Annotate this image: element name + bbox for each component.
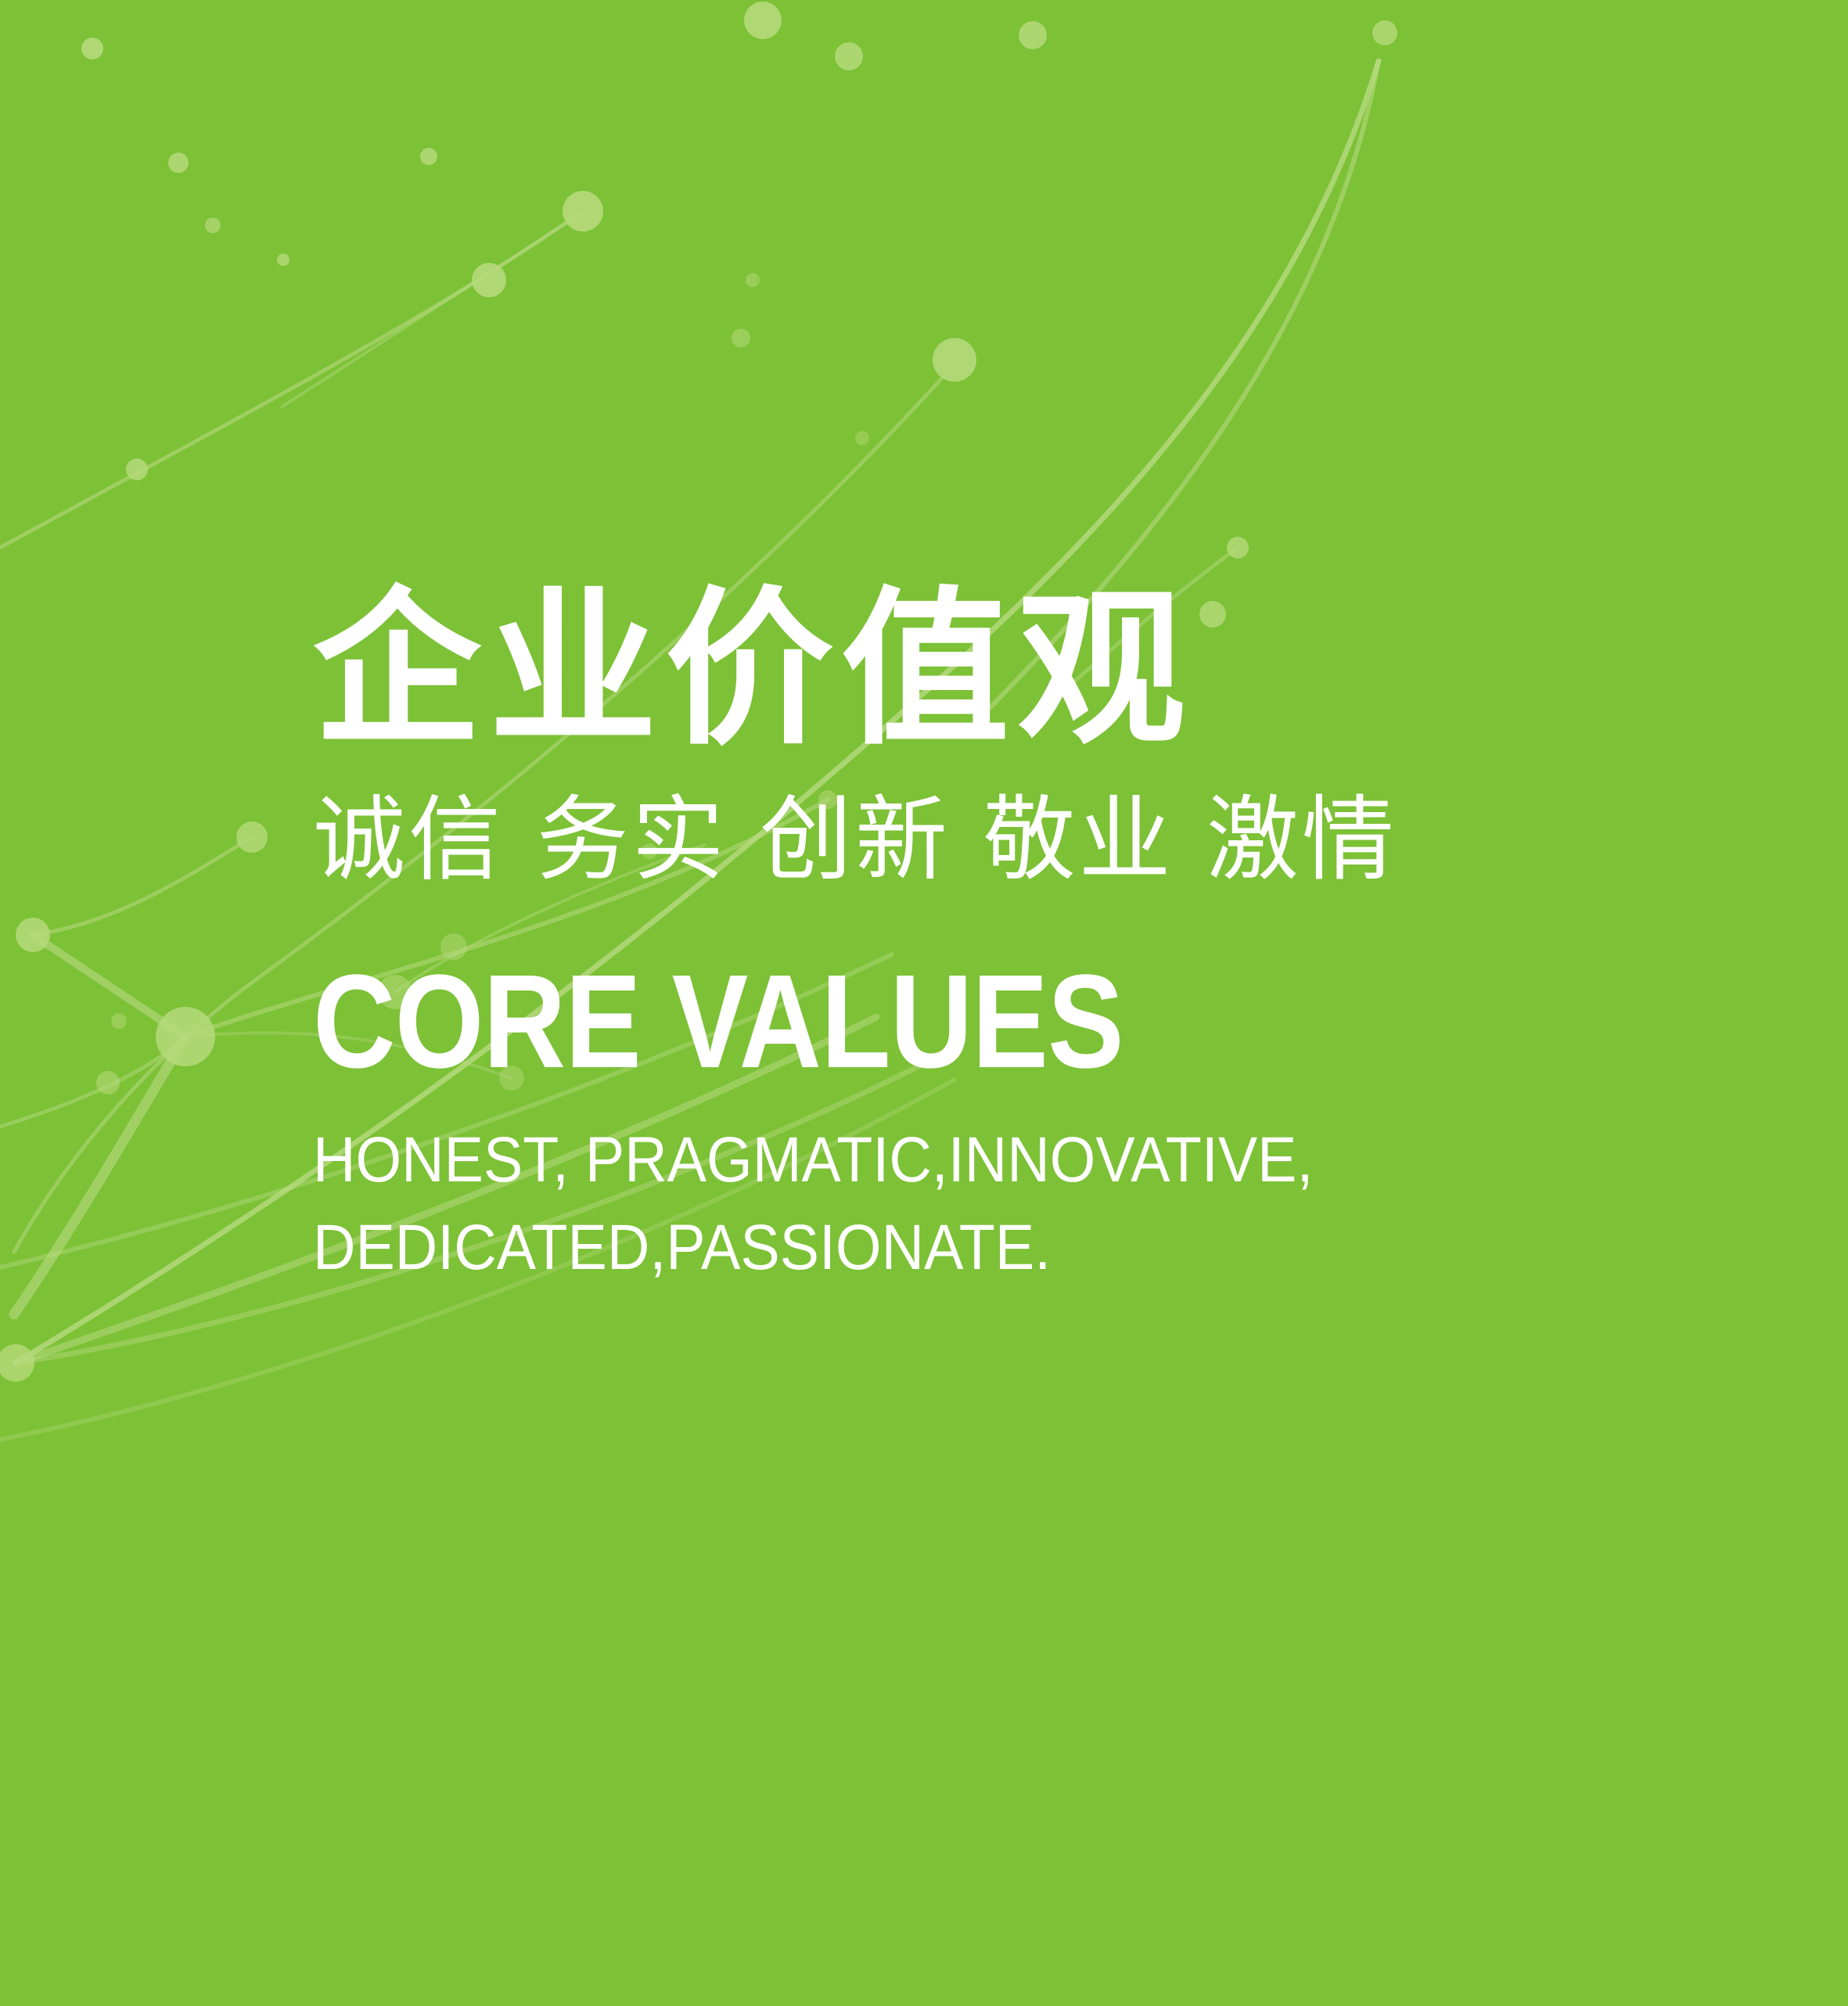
core-values-poster: 企业价值观 诚信 务实 创新 敬业 激情 CORE VALUES HONEST,… xyxy=(0,0,1848,2006)
page-title-chinese: 企业价值观 xyxy=(313,579,1721,760)
text-content-block: 企业价值观 诚信 务实 创新 敬业 激情 CORE VALUES HONEST,… xyxy=(313,579,1721,1291)
subtitle-chinese-values: 诚信 务实 创新 敬业 激情 xyxy=(313,782,1721,898)
english-values-body: HONEST, PRAGMATIC,INNOVATIVE, DEDICATED,… xyxy=(313,1116,1609,1291)
english-values-line-1: HONEST, PRAGMATIC,INNOVATIVE, xyxy=(313,1116,1609,1204)
page-title-english: CORE VALUES xyxy=(313,954,1524,1090)
english-values-line-2: DEDICATED,PASSIONATE. xyxy=(313,1204,1609,1292)
